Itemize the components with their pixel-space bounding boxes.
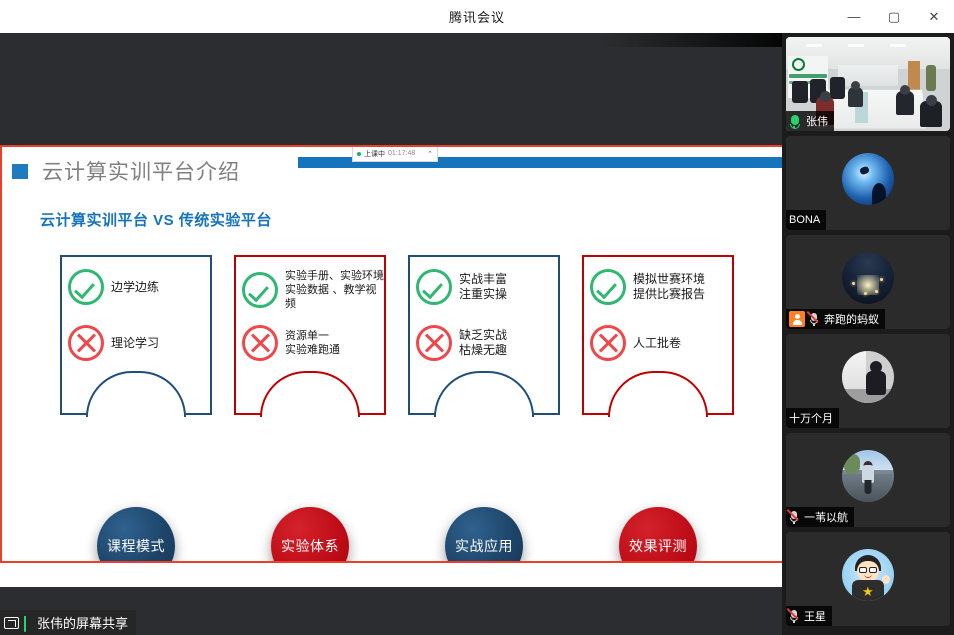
- card-pro-row: 实战丰富 注重实操: [416, 269, 507, 305]
- mic-on-icon: [24, 616, 32, 630]
- participant-name-bar: 奔跑的蚂蚁: [786, 309, 885, 329]
- card-pro-text: 模拟世赛环境 提供比赛报告: [633, 272, 705, 302]
- card-con-text: 资源单一 实验难跑通: [285, 329, 340, 357]
- comparison-card: 模拟世赛环境 提供比赛报告 人工批卷: [582, 255, 734, 415]
- avatar: [842, 252, 894, 304]
- check-circle-icon: [590, 269, 626, 305]
- screen-share-frame: 上课中 01:17:48 ⌃ 云计算实训平台介绍 云计算实训平台 VS 传统实验…: [0, 145, 782, 563]
- card-con-row: 人工批卷: [590, 325, 681, 361]
- slide-underflow: [0, 563, 782, 587]
- card-notch-mask: [436, 413, 532, 419]
- card-pro-row: 实验手册、实验环境 实验数据 、教学视频: [242, 269, 386, 311]
- host-badge-icon: [789, 311, 805, 327]
- mic-off-icon: [789, 609, 800, 623]
- card-notch-mask: [88, 413, 184, 419]
- close-button[interactable]: ✕: [914, 0, 954, 33]
- avatar: [842, 351, 894, 403]
- window-controls: — ▢ ✕: [834, 0, 954, 33]
- cross-circle-icon: [590, 325, 626, 361]
- card-con-text: 人工批卷: [633, 336, 681, 351]
- cross-circle-icon: [416, 325, 452, 361]
- chevron-up-icon[interactable]: ⌃: [427, 150, 433, 158]
- card-pro-text: 实验手册、实验环境 实验数据 、教学视频: [285, 269, 386, 311]
- stage-circle: 实战应用: [445, 507, 523, 561]
- check-circle-icon: [242, 272, 278, 308]
- maximize-button[interactable]: ▢: [874, 0, 914, 33]
- participant-name-bar: 一苇以航: [786, 507, 854, 527]
- participant-tile[interactable]: 奔跑的蚂蚁: [786, 235, 950, 329]
- card-pro-row: 模拟世赛环境 提供比赛报告: [590, 269, 705, 305]
- avatar: [842, 450, 894, 502]
- comparison-card: 实战丰富 注重实操 缺乏实战 枯燥无趣: [408, 255, 560, 415]
- participant-tile[interactable]: BONA: [786, 136, 950, 230]
- comparison-cards: 边学边练 理论学习 实验手册、实验环境 实验数据 、教学视频: [2, 147, 782, 561]
- recording-dot-icon: [357, 152, 361, 156]
- participant-tile[interactable]: 张伟: [786, 37, 950, 131]
- participant-tile[interactable]: 一苇以航: [786, 433, 950, 527]
- card-con-row: 资源单一 实验难跑通: [242, 325, 340, 361]
- participant-tile[interactable]: ★ 王星: [786, 532, 950, 626]
- mic-off-icon: [809, 312, 820, 326]
- app-title: 腾讯会议: [449, 7, 505, 26]
- participant-name-bar: BONA: [786, 210, 826, 230]
- screen-share-icon: [4, 617, 19, 629]
- check-circle-icon: [416, 269, 452, 305]
- pill-timer: 01:17:48: [388, 150, 415, 157]
- card-con-row: 理论学习: [68, 325, 159, 361]
- check-circle-icon: [68, 269, 104, 305]
- card-pro-text: 实战丰富 注重实操: [459, 272, 507, 302]
- card-con-text: 理论学习: [111, 336, 159, 351]
- avatar: [842, 153, 894, 205]
- participant-tile[interactable]: 十万个月: [786, 334, 950, 428]
- participant-name-bar: 十万个月: [786, 408, 839, 428]
- card-pro-row: 边学边练: [68, 269, 159, 305]
- participant-name: 一苇以航: [804, 509, 848, 525]
- mic-on-icon: [789, 114, 802, 128]
- stage-circle: 实验体系: [271, 507, 349, 561]
- card-con-row: 缺乏实战 枯燥无趣: [416, 325, 507, 361]
- participant-rail[interactable]: 张伟 BONA 奔跑的蚂蚁: [782, 33, 954, 635]
- stage-circle: 效果评测: [619, 507, 697, 561]
- avatar: ★: [842, 549, 894, 601]
- participant-name: 张伟: [806, 113, 828, 129]
- card-notch-mask: [610, 413, 706, 419]
- presentation-slide: 上课中 01:17:48 ⌃ 云计算实训平台介绍 云计算实训平台 VS 传统实验…: [2, 147, 782, 561]
- stage-circle: 课程模式: [97, 507, 175, 561]
- card-notch-mask: [262, 413, 358, 419]
- screen-share-status: 张伟的屏幕共享: [0, 610, 136, 635]
- participant-name: 十万个月: [789, 410, 833, 426]
- cross-circle-icon: [68, 325, 104, 361]
- participant-name: 奔跑的蚂蚁: [824, 311, 879, 327]
- meeting-status-pill[interactable]: 上课中 01:17:48 ⌃: [352, 147, 438, 162]
- card-con-text: 缺乏实战 枯燥无趣: [459, 328, 507, 358]
- comparison-card: 边学边练 理论学习: [60, 255, 212, 415]
- participant-name-bar: 张伟: [786, 111, 834, 131]
- screen-share-owner-label: 张伟的屏幕共享: [37, 613, 128, 632]
- participant-name-bar: 王星: [786, 606, 832, 626]
- card-pro-text: 边学边练: [111, 280, 159, 295]
- comparison-card: 实验手册、实验环境 实验数据 、教学视频 资源单一 实验难跑通: [234, 255, 386, 415]
- cross-circle-icon: [242, 325, 278, 361]
- participant-name: BONA: [789, 214, 820, 226]
- window-title-bar: 腾讯会议 — ▢ ✕: [0, 0, 954, 33]
- minimize-button[interactable]: —: [834, 0, 874, 33]
- stage-gradient: [602, 33, 782, 47]
- mic-off-icon: [789, 510, 800, 524]
- participant-name: 王星: [804, 608, 826, 624]
- shared-screen-stage: 上课中 01:17:48 ⌃ 云计算实训平台介绍 云计算实训平台 VS 传统实验…: [0, 33, 782, 635]
- pill-status-label: 上课中: [364, 149, 385, 159]
